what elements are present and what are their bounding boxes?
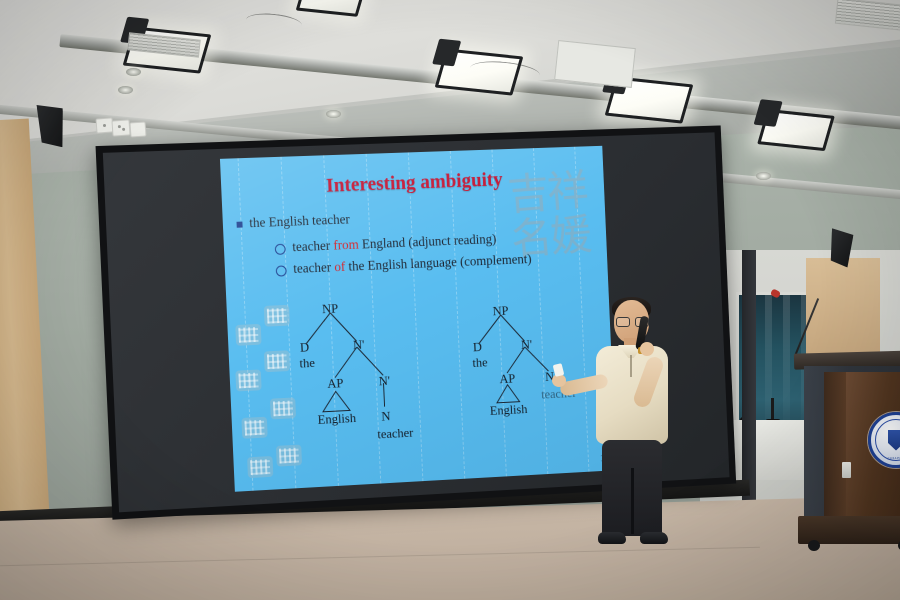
watermark-stamp (264, 350, 290, 372)
tree-leaf: teacher (377, 425, 414, 443)
lectern-caster (808, 540, 820, 551)
lectern-label-plate (842, 462, 851, 478)
watermark-stamp (235, 369, 261, 391)
circle-bullet-icon (276, 265, 287, 276)
tree-leaf: the (299, 355, 315, 372)
tree-node: NP (322, 301, 339, 317)
tree-node: AP (327, 375, 344, 392)
right-wood-panel (806, 258, 880, 366)
recessed-downlight (126, 68, 141, 76)
lectern-wood-side (824, 372, 848, 520)
shoe (598, 532, 626, 544)
recessed-downlight (326, 110, 341, 118)
presenter (588, 300, 698, 555)
circle-bullet-icon (275, 244, 286, 255)
tree-node: N' (353, 337, 365, 353)
tree-node: N' (378, 373, 390, 389)
watermark-stamp (235, 324, 261, 346)
tree-leaf: English (490, 401, 528, 418)
adjunct-reading-tree: NP D the N' AP English N' N teacher (285, 296, 445, 451)
slide-bullet-level2: teacher of the English language (complem… (275, 251, 531, 277)
tree-node: N' (521, 337, 533, 353)
tree-node: AP (499, 371, 515, 387)
bullet-text: the English teacher (249, 212, 350, 232)
ceiling-access-panel (554, 40, 636, 88)
slide-bullet-level1: the English teacher (236, 212, 350, 232)
slide-bullet-level2: teacher from England (adjunct reading) (274, 231, 496, 256)
bullet-highlight-text: from (333, 237, 359, 253)
tree-node: D (300, 339, 310, 355)
tree-branches (285, 296, 445, 451)
bullet-post-text: the English language (complement) (345, 251, 532, 273)
bullet-pre-text: teacher (293, 259, 335, 275)
watermark-stamp (241, 417, 267, 439)
tree-node: N (381, 408, 391, 424)
bullet-pre-text: teacher (292, 238, 334, 254)
complement-reading-tree: NP D the N' AP English N teacher (459, 299, 606, 432)
projected-slide: 吉祥名媛 Interesting ambiguity the English t… (220, 146, 616, 492)
shoe (640, 532, 668, 544)
recessed-downlight (756, 172, 771, 180)
lectern: COLLEGE (800, 352, 900, 567)
tree-node: NP (492, 303, 508, 319)
wall-outlet-plate[interactable] (111, 119, 130, 136)
wall-outlet-plate[interactable] (95, 117, 113, 133)
crest-text: COLLEGE (871, 456, 900, 460)
ceiling-panel-light (757, 109, 835, 151)
tree-leaf: the (472, 355, 488, 371)
table-microphone (771, 398, 774, 420)
bullet-highlight-text: of (334, 259, 346, 274)
leg-seam (631, 468, 634, 534)
recessed-downlight (118, 86, 133, 94)
square-bullet-icon (237, 222, 243, 228)
lecture-hall-scene: 吉祥名媛 Interesting ambiguity the English t… (0, 0, 900, 600)
right-hand (640, 342, 654, 356)
wall-outlet-plate[interactable] (129, 121, 146, 137)
watermark-stamp (247, 456, 273, 478)
bullet-post-text: England (adjunct reading) (358, 231, 496, 251)
shirt-placket (630, 355, 632, 377)
tree-node: D (473, 339, 483, 355)
tree-leaf: English (317, 410, 356, 428)
